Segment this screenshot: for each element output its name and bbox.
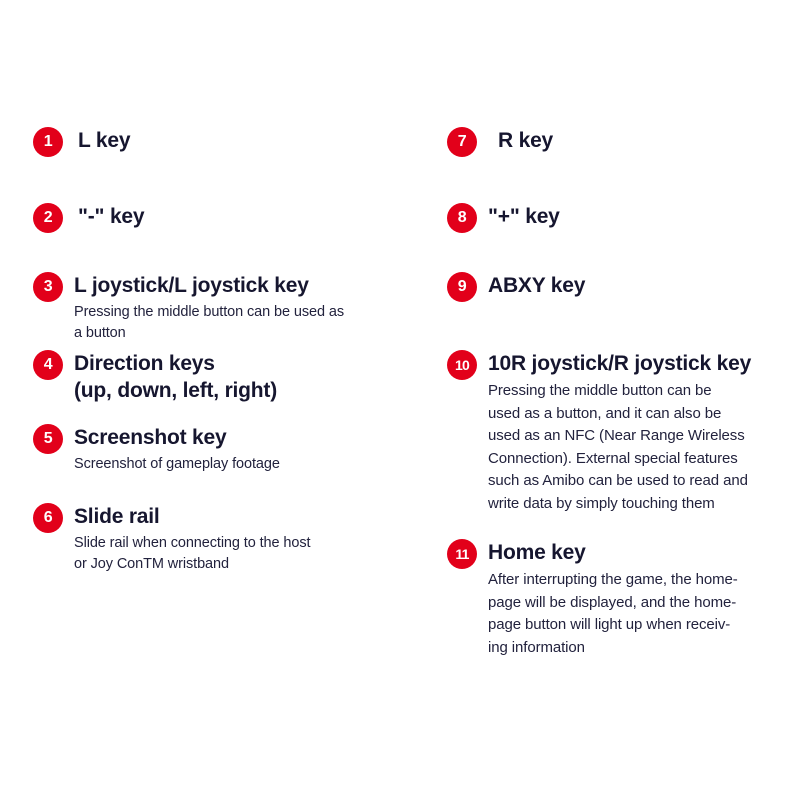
legend-badge-7: 7 — [447, 127, 477, 157]
legend-badge-8: 8 — [447, 203, 477, 233]
legend-badge-9: 9 — [447, 272, 477, 302]
legend-sheet: 1 L key 2 "-" key 3 L joystick/L joystic… — [0, 0, 800, 800]
legend-title-4: Direction keys (up, down, left, right) — [74, 350, 424, 404]
legend-title-2: "-" key — [78, 203, 144, 230]
legend-title-10: 10R joystick/R joystick key — [488, 350, 798, 377]
legend-desc-5: Screenshot of gameplay footage — [74, 454, 424, 475]
legend-desc-10: Pressing the middle button can be used a… — [488, 380, 798, 515]
legend-title-3: L joystick/L joystick key — [74, 272, 424, 299]
legend-title-7: R key — [498, 127, 553, 154]
legend-badge-2: 2 — [33, 203, 63, 233]
legend-badge-1: 1 — [33, 127, 63, 157]
legend-badge-5: 5 — [33, 424, 63, 454]
legend-title-11: Home key — [488, 539, 798, 566]
legend-badge-3: 3 — [33, 272, 63, 302]
legend-badge-6: 6 — [33, 503, 63, 533]
legend-title-9: ABXY key — [488, 272, 585, 299]
legend-badge-10: 10 — [447, 350, 477, 380]
legend-title-5: Screenshot key — [74, 424, 424, 451]
legend-desc-3: Pressing the middle button can be used a… — [74, 302, 424, 344]
legend-title-8: "+" key — [488, 203, 560, 230]
legend-title-1: L key — [78, 127, 130, 154]
legend-desc-11: After interrupting the game, the home- p… — [488, 569, 798, 659]
legend-badge-4: 4 — [33, 350, 63, 380]
legend-desc-6: Slide rail when connecting to the host o… — [74, 533, 424, 575]
legend-title-6: Slide rail — [74, 503, 424, 530]
legend-badge-11: 11 — [447, 539, 477, 569]
